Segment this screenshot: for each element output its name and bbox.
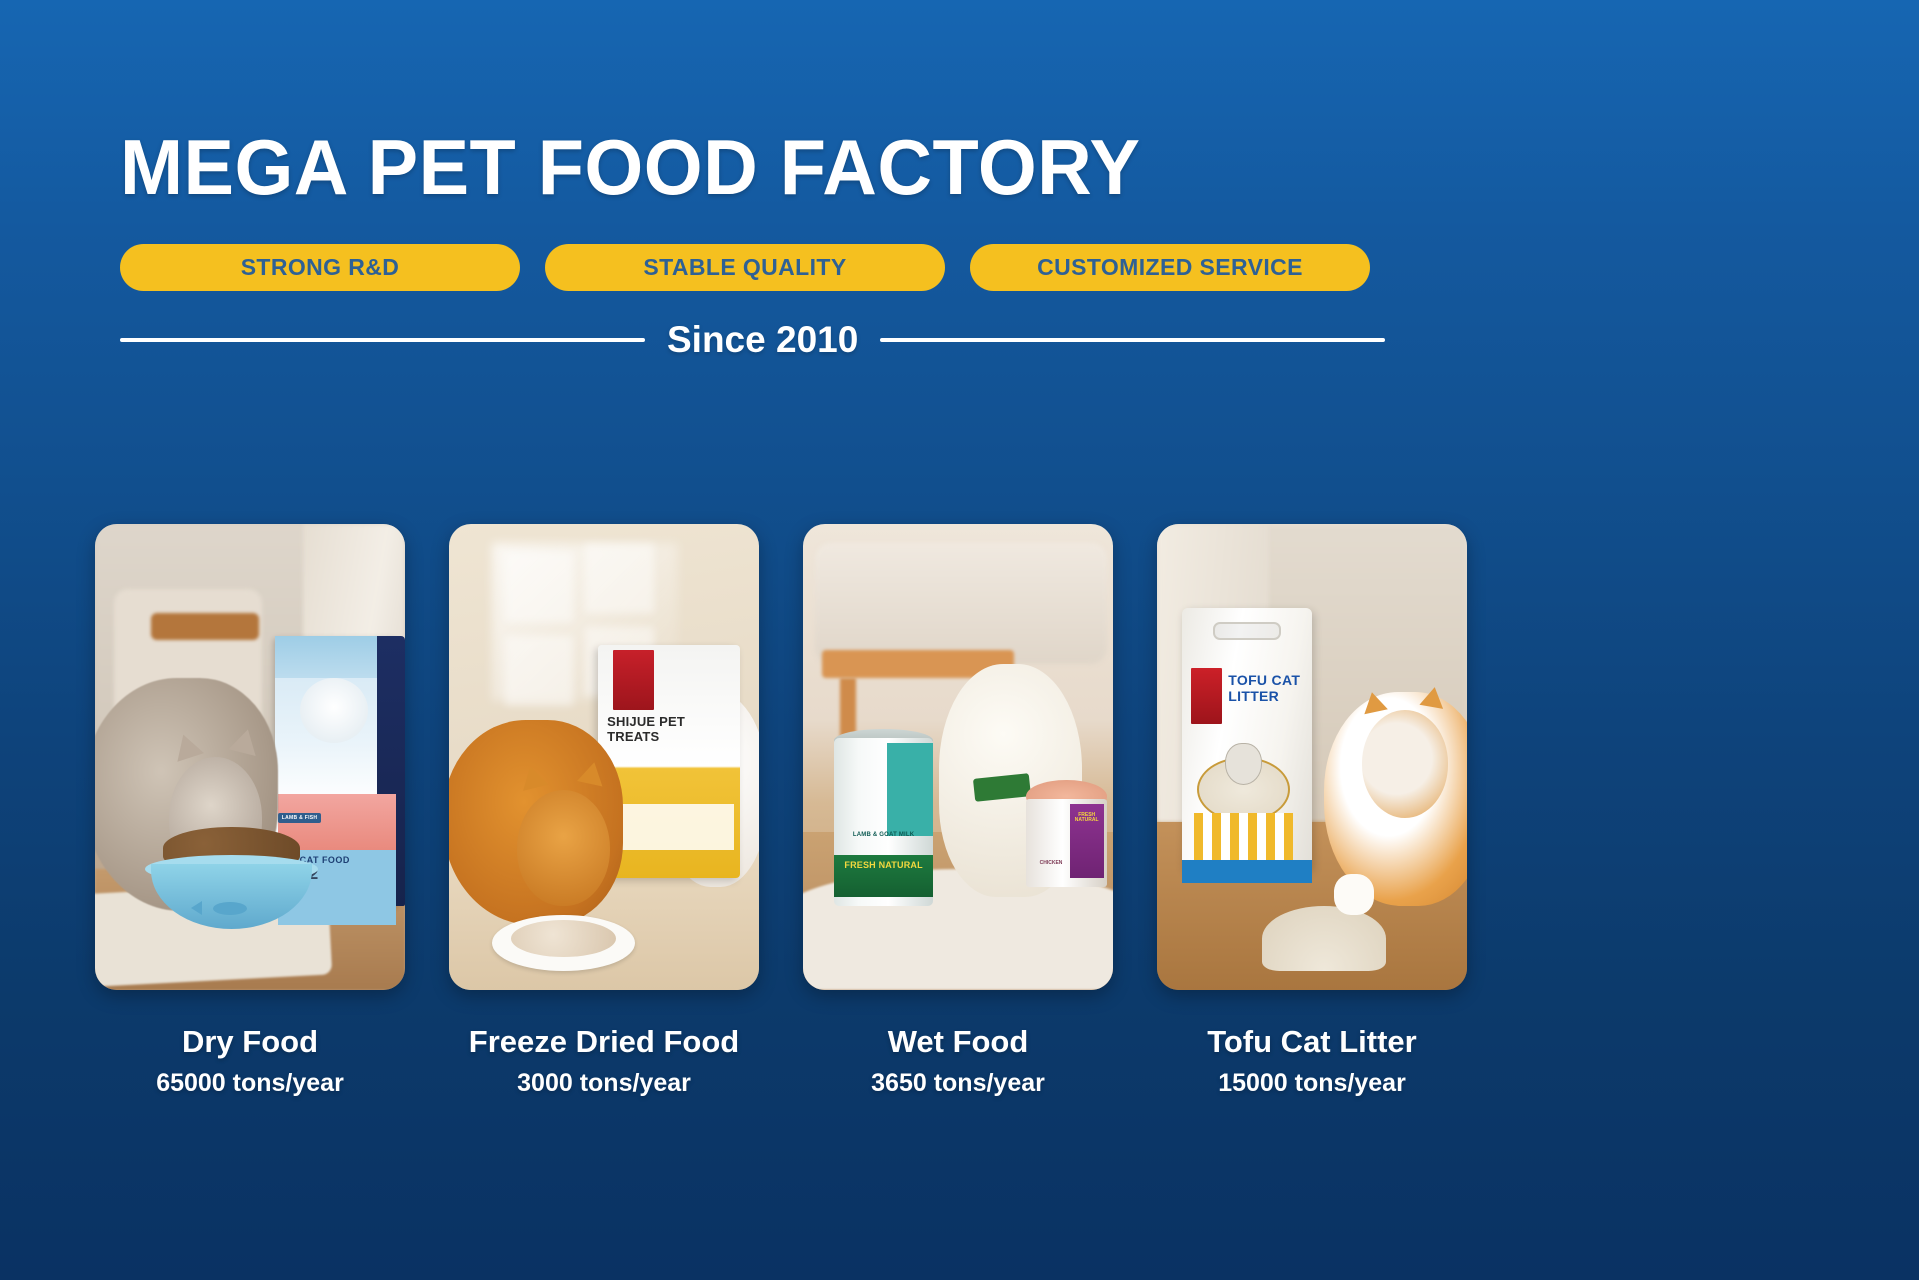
product-capacity: 3000 tons/year xyxy=(449,1069,759,1098)
feature-badge-group: STRONG R&D STABLE QUALITY CUSTOMIZED SER… xyxy=(120,244,1820,291)
pack-flavor-label: LAMB & FISH xyxy=(278,813,322,823)
page-title: MEGA PET FOOD FACTORY xyxy=(120,128,1769,206)
product-name: Wet Food xyxy=(803,1024,1113,1060)
product-capacity: 15000 tons/year xyxy=(1157,1069,1467,1098)
pack-flavor-label: LAMB & GOAT MILK xyxy=(837,832,930,838)
product-image-freeze-dried-food: SHIJUE PET TREATS xyxy=(449,524,759,990)
product-capacity: 65000 tons/year xyxy=(95,1069,405,1098)
product-card-freeze-dried-food[interactable]: SHIJUE PET TREATS Freeze Dried Food 3000… xyxy=(449,524,759,1098)
badge-stable-quality[interactable]: STABLE QUALITY xyxy=(545,244,945,291)
product-capacity: 3650 tons/year xyxy=(803,1069,1113,1098)
divider-line-left xyxy=(120,338,645,342)
pack-brand-label: SHIJUE PET TREATS xyxy=(607,715,737,745)
product-name: Freeze Dried Food xyxy=(449,1024,759,1060)
badge-label: CUSTOMIZED SERVICE xyxy=(1037,254,1303,281)
product-card-wet-food[interactable]: LAMB & GOAT MILK FRESH NATURAL FRESH NAT… xyxy=(803,524,1113,1098)
product-image-wet-food: LAMB & GOAT MILK FRESH NATURAL FRESH NAT… xyxy=(803,524,1113,990)
badge-customized-service[interactable]: CUSTOMIZED SERVICE xyxy=(970,244,1370,291)
since-label: Since 2010 xyxy=(667,319,858,361)
badge-label: STRONG R&D xyxy=(241,254,400,281)
page-header: MEGA PET FOOD FACTORY STRONG R&D STABLE … xyxy=(120,128,1820,361)
badge-label: STABLE QUALITY xyxy=(643,254,846,281)
product-image-tofu-cat-litter: TOFU CAT LITTER xyxy=(1157,524,1467,990)
product-card-grid: LAMB & FISH CAT FOOD 52 Dry Food 65000 t… xyxy=(95,524,1467,1098)
pack-secondary-brand-label: FRESH NATURAL xyxy=(1073,813,1101,824)
product-image-dry-food: LAMB & FISH CAT FOOD 52 xyxy=(95,524,405,990)
pack-brand-label: TOFU CAT LITTER xyxy=(1228,673,1315,704)
product-name: Tofu Cat Litter xyxy=(1157,1024,1467,1060)
badge-strong-rd[interactable]: STRONG R&D xyxy=(120,244,520,291)
product-card-dry-food[interactable]: LAMB & FISH CAT FOOD 52 Dry Food 65000 t… xyxy=(95,524,405,1098)
pack-brand-label: FRESH NATURAL xyxy=(837,860,930,870)
pack-second-can-flavor: CHICKEN xyxy=(1032,860,1069,866)
product-name: Dry Food xyxy=(95,1024,405,1060)
product-card-tofu-cat-litter[interactable]: TOFU CAT LITTER Tofu Cat Litter 15000 to… xyxy=(1157,524,1467,1098)
divider-line-right xyxy=(880,338,1385,342)
since-divider-row: Since 2010 xyxy=(120,319,1385,361)
